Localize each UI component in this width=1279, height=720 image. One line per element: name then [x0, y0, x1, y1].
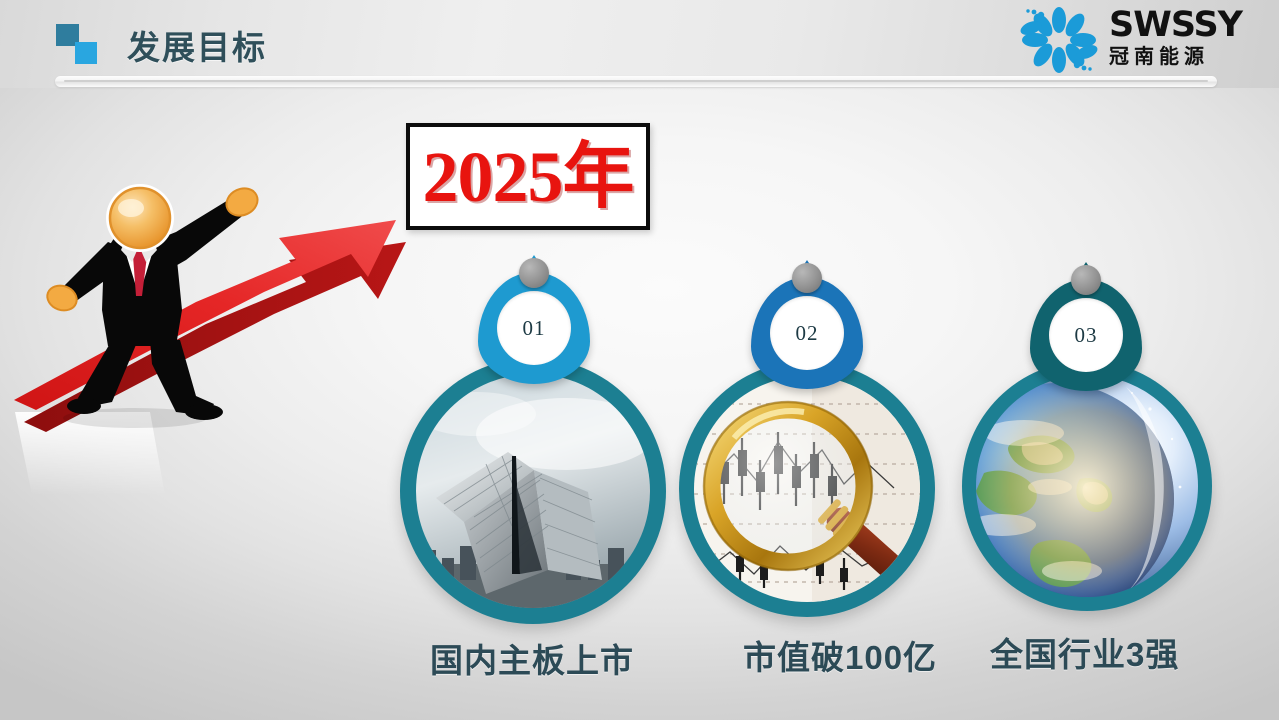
goal-number-badge-01: 01 — [497, 291, 571, 365]
year-badge-text: 2025年 — [422, 141, 633, 213]
year-badge: 2025年 — [406, 123, 650, 230]
page-title: 发展目标 — [127, 21, 267, 69]
goal-pin-01[interactable]: 01 — [478, 258, 590, 408]
goal-label-01: 国内主板上市 — [430, 634, 634, 682]
goal-number-badge-02: 02 — [770, 296, 844, 370]
goal-item-02[interactable]: 02 市值破100亿 — [679, 263, 941, 683]
goal-drop-03: 03 — [1030, 279, 1142, 391]
businessman-rising-arrow-illustration — [0, 150, 420, 520]
slide: 发展目标 — [0, 0, 1279, 720]
goal-number-03: 03 — [1075, 323, 1098, 348]
pin-head-icon-03 — [1071, 265, 1101, 295]
decoration-square-bright — [75, 42, 97, 64]
goal-pin-02[interactable]: 02 — [751, 263, 863, 413]
goal-label-02: 市值破100亿 — [743, 631, 937, 679]
title-decoration-squares — [56, 24, 104, 66]
goal-number-02: 02 — [796, 321, 819, 346]
petal-burst-icon — [1015, 6, 1103, 74]
goal-number-badge-03: 03 — [1049, 298, 1123, 372]
goal-item-03[interactable]: 03 全国行业3强 — [962, 265, 1224, 685]
goal-number-01: 01 — [523, 316, 546, 341]
logo-name: SWSSY — [1109, 6, 1265, 44]
goal-item-01[interactable]: 01 国内主板上市 — [400, 258, 672, 678]
logo-subtitle: 冠南能源 — [1109, 45, 1265, 69]
goal-image-01 — [416, 374, 650, 608]
logo-text-block: SWSSY 冠南能源 — [1109, 6, 1265, 69]
goal-label-03: 全国行业3强 — [990, 628, 1179, 676]
goal-drop-02: 02 — [751, 277, 863, 389]
goal-drop-01: 01 — [478, 272, 590, 384]
pin-head-icon-01 — [519, 258, 549, 288]
slide-header: 发展目标 — [0, 0, 1279, 88]
header-divider — [55, 76, 1217, 87]
pin-head-icon-02 — [792, 263, 822, 293]
goal-pin-03[interactable]: 03 — [1030, 265, 1142, 415]
company-logo: SWSSY 冠南能源 — [1015, 4, 1265, 76]
